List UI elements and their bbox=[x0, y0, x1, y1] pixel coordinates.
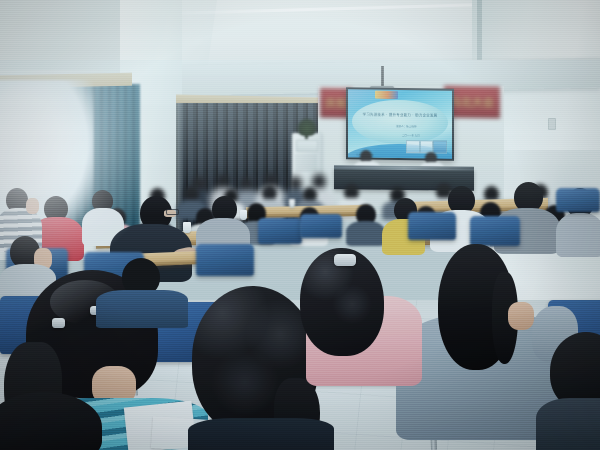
chair-mid-8[interactable] bbox=[556, 188, 600, 212]
hair-tie bbox=[334, 254, 356, 266]
torso-blue bbox=[96, 290, 188, 328]
screen-glare bbox=[348, 89, 452, 158]
chair-mid-6[interactable] bbox=[408, 212, 456, 240]
head-partial bbox=[0, 392, 102, 450]
woman-pink-top bbox=[300, 252, 428, 384]
hair-clip-1 bbox=[52, 318, 65, 328]
shoulder-dark-top bbox=[188, 418, 334, 450]
projection-screen: 学习先进技术 · 提升专业能力 · 助力企业发展 主讲人：陈工程师 二〇一一年 … bbox=[348, 89, 452, 158]
potted-plant bbox=[297, 118, 317, 136]
person-blue-shirt-mid bbox=[96, 258, 188, 320]
shoulder-right-edge bbox=[536, 398, 600, 450]
chair-mid-4[interactable] bbox=[258, 218, 302, 244]
ac-control-panel bbox=[296, 140, 318, 152]
chair-mid-7[interactable] bbox=[470, 216, 520, 246]
chair-mid-5[interactable] bbox=[300, 214, 342, 238]
person-right-edge bbox=[536, 332, 600, 450]
person-bottom-left-partial bbox=[0, 392, 106, 450]
projector-mount-pole bbox=[381, 66, 384, 88]
neck-skin bbox=[508, 302, 534, 330]
seminar-room-photo: 庆祝 马北大会 学习先进技术 · 提升专业能力 · 助力企业发展 主讲人：陈工程… bbox=[0, 0, 600, 450]
wall-fixture bbox=[548, 118, 556, 130]
